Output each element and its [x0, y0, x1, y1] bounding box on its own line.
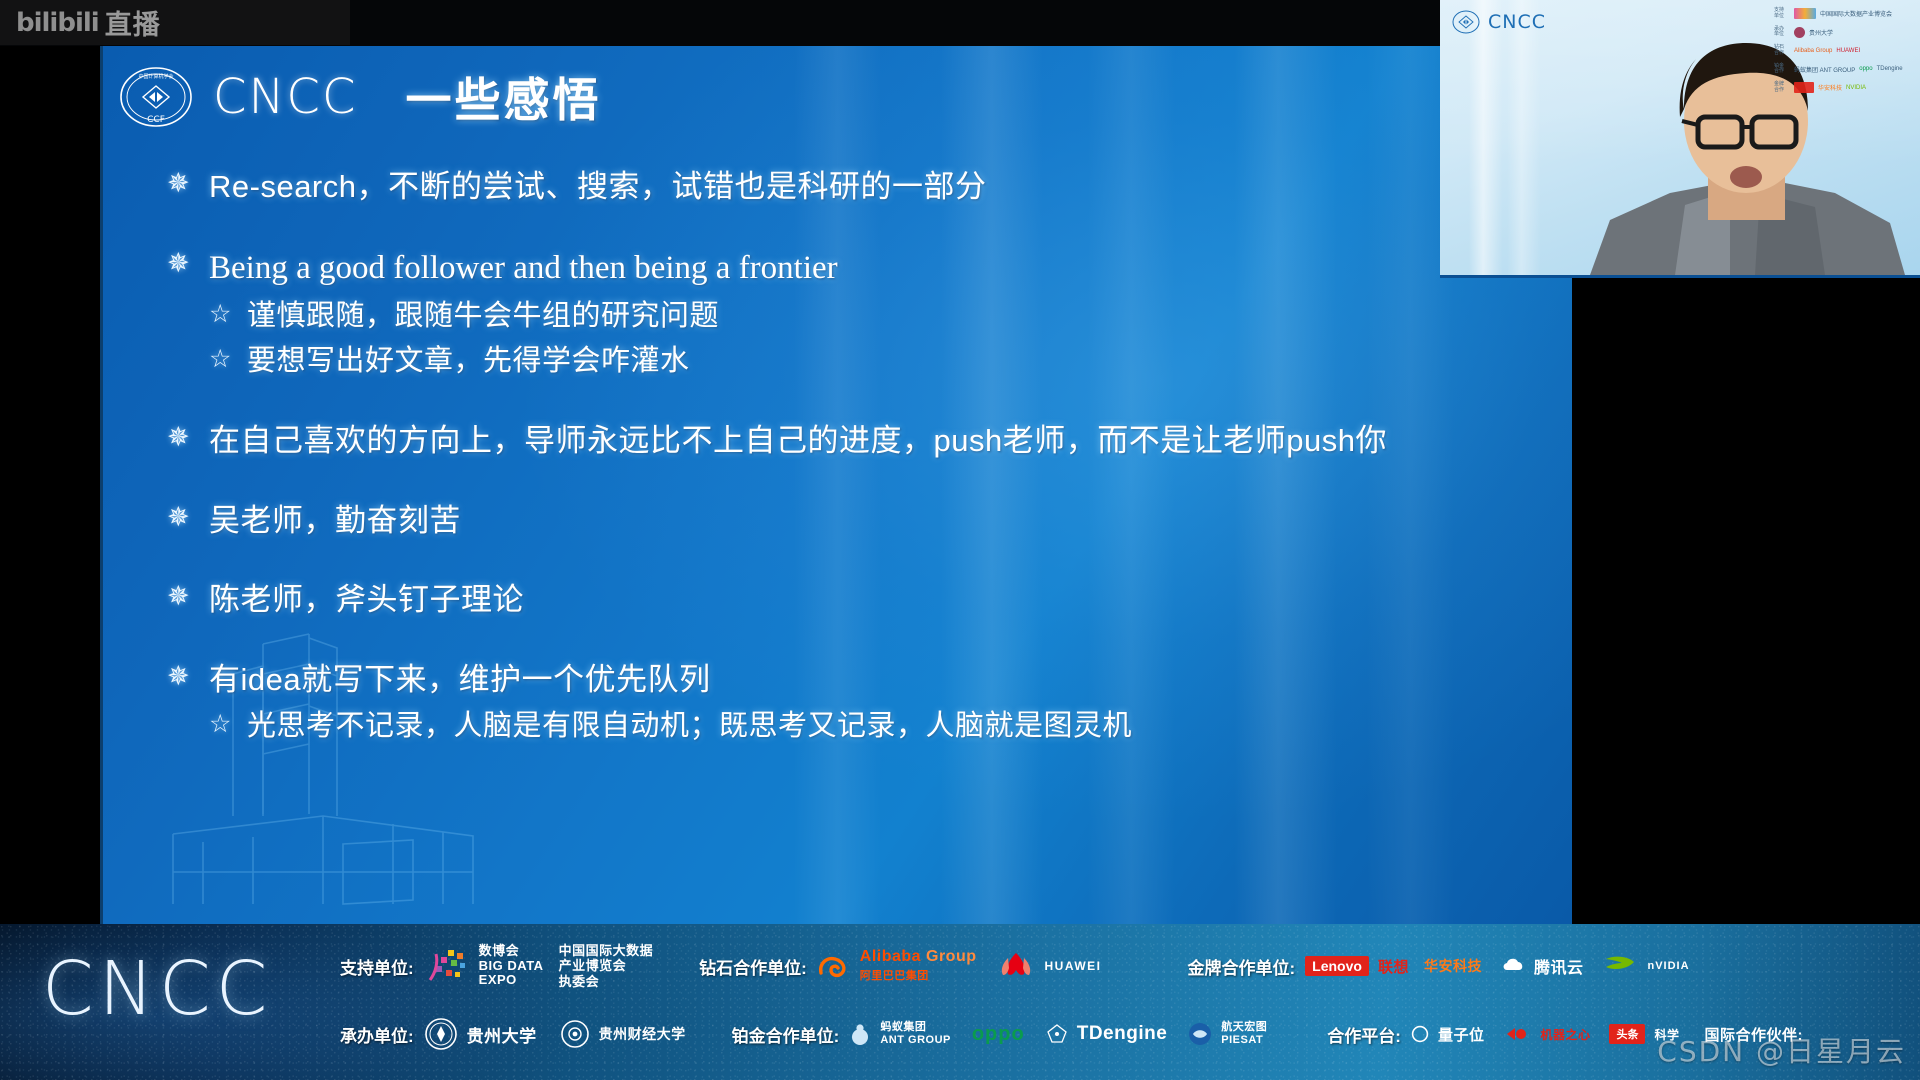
- alibaba-logo-icon: [817, 953, 851, 979]
- bullet-text: 在自己喜欢的方向上，导师永远比不上自己的进度，push老师，而不是让老师push…: [209, 418, 1387, 464]
- lenovo-cn-text: 联想: [1378, 956, 1409, 977]
- nvidia-logo: NVIDIA: [1846, 85, 1866, 91]
- bigdata-expo-logo: [1794, 8, 1816, 19]
- qbitai-text: 量子位: [1438, 1024, 1485, 1045]
- bullet-block: ✵ 陈老师，斧头钉子理论: [167, 577, 1542, 623]
- ant-group-logo: 蚂蚁集团 ANT GROUP: [1794, 65, 1855, 74]
- guizhou-university-logo: [1794, 27, 1805, 38]
- sub-bullet-text: 光思考不记录，人脑是有限自动机；既思考又记录，人脑就是图灵机: [247, 705, 1132, 749]
- webcam-sponsor-row: 承办单位 贵州大学: [1774, 27, 1914, 39]
- sponsor-label: 金牌合作单位:: [1188, 954, 1296, 979]
- webcam-sponsor-label: 金牌合作: [1774, 82, 1790, 94]
- slide-brand-word: CNCC: [213, 69, 357, 125]
- guizhou-finance-university-logo-icon: [560, 1019, 590, 1049]
- guizhou-university-text: 贵州大学: [467, 1022, 537, 1047]
- huawei-logo-text: HUAWEI: [1045, 959, 1102, 973]
- qbitai-logo-icon: [1411, 1025, 1429, 1043]
- bilibili-logo-icon: bilibili: [16, 8, 99, 38]
- sub-bullet: ☆ 要想写出好文章，先得学会咋灌水: [167, 340, 1542, 384]
- bullet-marker-icon: ✵: [167, 657, 209, 698]
- bullet-block: ✵ Re-search，不断的尝试、搜索，试错也是科研的一部分: [167, 164, 1542, 210]
- bullet-marker-icon: ✵: [167, 418, 209, 459]
- bullet-marker-icon: ✵: [167, 498, 209, 539]
- slide-header: CCF 中国计算机学会 CNCC 一些感悟: [119, 64, 601, 130]
- slide-letterbox-right: [1572, 278, 1920, 924]
- oppo-logo: oppo: [972, 1023, 1025, 1046]
- nvidia-logo-text: nVIDIA: [1647, 960, 1689, 972]
- huawei-logo: HUAWEI: [1836, 48, 1860, 54]
- svg-text:CCF: CCF: [147, 115, 165, 125]
- slide-title: 一些感悟: [405, 64, 601, 130]
- event-wordmark: CNCC: [42, 946, 272, 1032]
- jiqizhixin-text: 机器之心: [1540, 1026, 1590, 1043]
- csdn-watermark: CSDN @日星月云: [1657, 1030, 1906, 1070]
- star-marker-icon: ☆: [209, 705, 247, 743]
- nvidia-logo-icon: [1602, 953, 1638, 979]
- sponsor-logo-group: 数博会BIG DATAEXPO 中国国际大数据产业博览会执委会: [424, 943, 653, 990]
- ccf-logo-icon: [1452, 10, 1480, 34]
- sponsor-logo-group: Alibaba Group阿里巴巴集团 HUAWEI: [817, 948, 1102, 984]
- tencent-cloud-icon: [1501, 956, 1525, 976]
- piesat-logo-icon: [1188, 1022, 1212, 1046]
- slide-letterbox-left: [0, 46, 100, 924]
- bullet-marker-icon: ✵: [167, 244, 209, 285]
- huawei-logo-icon: [996, 950, 1036, 982]
- webcam-sponsor-column: 支持单位 中国国际大数据产业博览会 承办单位 贵州大学 钻石合作 Alibaba…: [1774, 8, 1914, 94]
- sponsor-label: 合作平台:: [1327, 1022, 1401, 1047]
- bullet-text: 陈老师，斧头钉子理论: [209, 577, 524, 623]
- sponsor-logo-group: 贵州大学 贵州财经大学: [424, 1017, 686, 1051]
- sponsor-label: 承办单位:: [340, 1022, 414, 1047]
- guizhou-university-logo-icon: [424, 1017, 458, 1051]
- ant-group-logo-icon: [849, 1022, 871, 1046]
- sponsor-label: 铂金合作单位:: [732, 1022, 840, 1047]
- webcam-sponsor-label: 钻石合作: [1774, 45, 1790, 57]
- lenovo-logo: Lenovo: [1305, 956, 1369, 976]
- bigdata-expo-text: 数博会BIG DATAEXPO: [479, 944, 544, 989]
- bilibili-watermark: bilibili 直播: [0, 0, 350, 45]
- alibaba-logo: Alibaba Group: [1794, 48, 1832, 54]
- webcam-brand: CNCC: [1452, 10, 1546, 34]
- bullet-block: ✵ 有idea就写下来，维护一个优先队列 ☆ 光思考不记录，人脑是有限自动机；既…: [167, 657, 1542, 748]
- bullet-block: ✵ 在自己喜欢的方向上，导师永远比不上自己的进度，push老师，而不是让老师pu…: [167, 418, 1542, 464]
- piesat-text: 航天宏图PIESAT: [1221, 1021, 1267, 1046]
- tencent-cloud-text: 腾讯云: [1534, 954, 1584, 978]
- star-marker-icon: ☆: [209, 340, 247, 378]
- sponsor-logo-group: 蚂蚁集团ANT GROUP oppo TDengine 航天宏图PIESAT: [849, 1021, 1267, 1046]
- bullet-text: Being a good follower and then being a f…: [209, 244, 838, 293]
- star-marker-icon: ☆: [209, 295, 247, 333]
- bullet-text: 吴老师，勤奋刻苦: [209, 498, 461, 544]
- webcam-sponsor-row: 钻石合作 Alibaba Group HUAWEI: [1774, 45, 1914, 57]
- sponsor-label: 钻石合作单位:: [699, 954, 807, 979]
- webcam-sponsor-label: 承办单位: [1774, 27, 1790, 39]
- svg-text:中国计算机学会: 中国计算机学会: [138, 73, 173, 80]
- bullet-marker-icon: ✵: [167, 164, 209, 205]
- jiqizhixin-logo-icon: [1505, 1026, 1531, 1042]
- expo-committee-text: 中国国际大数据产业博览会执委会: [559, 943, 654, 990]
- bullet-text: Re-search，不断的尝试、搜索，试错也是科研的一部分: [209, 164, 987, 210]
- sub-bullet-text: 要想写出好文章，先得学会咋灌水: [247, 340, 690, 384]
- stream-viewport: CCF 中国计算机学会 CNCC 一些感悟 ✵ Re-search，不断的尝试、…: [0, 0, 1920, 1080]
- presentation-slide: CCF 中国计算机学会 CNCC 一些感悟 ✵ Re-search，不断的尝试、…: [100, 46, 1572, 924]
- ccf-logo-icon: CCF 中国计算机学会: [119, 66, 193, 128]
- huaan-tech-logo: 华安科技: [1424, 956, 1482, 976]
- bigdata-expo-logo: [424, 946, 470, 986]
- toutiao-logo: 头条: [1609, 1024, 1645, 1044]
- webcam-sponsor-text: 中国国际大数据产业博览会: [1820, 9, 1892, 18]
- sponsor-row: 支持单位: 数博会BIG DATAEXPO 中国国际大数据产业博览会执委会 钻石…: [340, 932, 1910, 1000]
- bullet-block: ✵ Being a good follower and then being a…: [167, 244, 1542, 384]
- webcam-sponsor-row: 支持单位 中国国际大数据产业博览会: [1774, 8, 1914, 20]
- webcam-brand-word: CNCC: [1488, 11, 1546, 33]
- bilibili-live-label: 直播: [105, 3, 161, 42]
- guizhou-finance-university-text: 贵州财经大学: [599, 1024, 686, 1044]
- webcam-sponsor-row: 铂金合作 蚂蚁集团 ANT GROUP oppo TDengine: [1774, 64, 1914, 76]
- webcam-sponsor-row: 金牌合作 华安科技 NVIDIA: [1774, 82, 1914, 94]
- speaker-webcam-overlay[interactable]: CNCC 支持单位 中国国际大数据产业博览会 承办单位 贵州大学 钻石合作: [1440, 0, 1920, 278]
- webcam-sponsor-label: 铂金合作: [1774, 64, 1790, 76]
- ant-group-text: 蚂蚁集团ANT GROUP: [880, 1021, 951, 1046]
- tdengine-text: TDengine: [1077, 1023, 1168, 1045]
- sponsor-label: 支持单位:: [340, 954, 414, 979]
- webcam-sponsor-text: 贵州大学: [1809, 28, 1833, 37]
- lenovo-logo: [1794, 82, 1814, 93]
- sponsor-logo-group: Lenovo 联想 华安科技 腾讯云 nVIDIA: [1305, 953, 1689, 979]
- bullet-block: ✵ 吴老师，勤奋刻苦: [167, 498, 1542, 544]
- sub-bullet: ☆ 谨慎跟随，跟随牛会牛组的研究问题: [167, 295, 1542, 339]
- huaan-tech-logo: 华安科技: [1818, 83, 1842, 92]
- oppo-logo: oppo: [1859, 66, 1872, 72]
- webcam-sponsor-label: 支持单位: [1774, 8, 1790, 20]
- tdengine-logo: TDengine: [1877, 66, 1903, 72]
- event-sponsor-bar: CNCC 支持单位: 数博会BIG DATAEXPO 中国国际大数据产业博览会执…: [0, 924, 1920, 1080]
- tdengine-logo-icon: [1046, 1023, 1068, 1045]
- alibaba-logo-text: Alibaba Group阿里巴巴集团: [860, 948, 977, 984]
- slide-bullet-list: ✵ Re-search，不断的尝试、搜索，试错也是科研的一部分 ✵ Being …: [167, 164, 1542, 753]
- bullet-text: 有idea就写下来，维护一个优先队列: [209, 657, 711, 703]
- bullet-marker-icon: ✵: [167, 577, 209, 618]
- sub-bullet-text: 谨慎跟随，跟随牛会牛组的研究问题: [247, 295, 719, 339]
- sub-bullet: ☆ 光思考不记录，人脑是有限自动机；既思考又记录，人脑就是图灵机: [167, 705, 1542, 749]
